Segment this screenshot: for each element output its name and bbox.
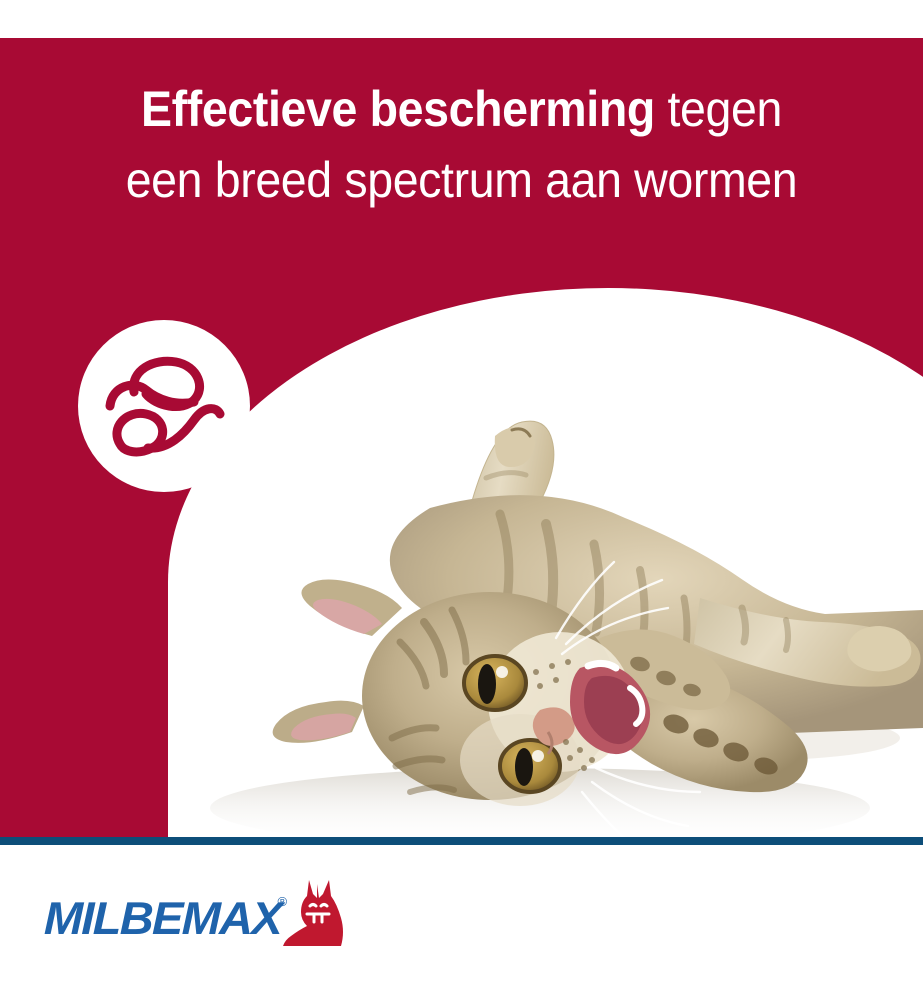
divider-line bbox=[0, 837, 923, 845]
brand-logo: MILBEMAX ® bbox=[44, 880, 349, 956]
kitten-photo bbox=[168, 288, 923, 837]
headline-line-1: Effectieve bescherming tegen bbox=[32, 74, 890, 145]
promo-banner: Effectieve bescherming tegen een breed s… bbox=[0, 0, 923, 1000]
headline-light: tegen bbox=[655, 81, 782, 137]
worms-badge bbox=[78, 320, 250, 492]
footer-bar: MILBEMAX ® bbox=[0, 845, 923, 1000]
logo-wordmark: MILBEMAX bbox=[44, 895, 282, 941]
hero-panel: Effectieve bescherming tegen een breed s… bbox=[0, 38, 923, 837]
photo-plate bbox=[168, 288, 923, 837]
headline-line-2: een breed spectrum aan wormen bbox=[32, 145, 890, 216]
worms-icon bbox=[102, 348, 226, 464]
page-title: Effectieve bescherming tegen een breed s… bbox=[32, 74, 890, 216]
headline-strong: Effectieve bescherming bbox=[141, 81, 655, 137]
cat-silhouette-icon bbox=[283, 874, 349, 948]
